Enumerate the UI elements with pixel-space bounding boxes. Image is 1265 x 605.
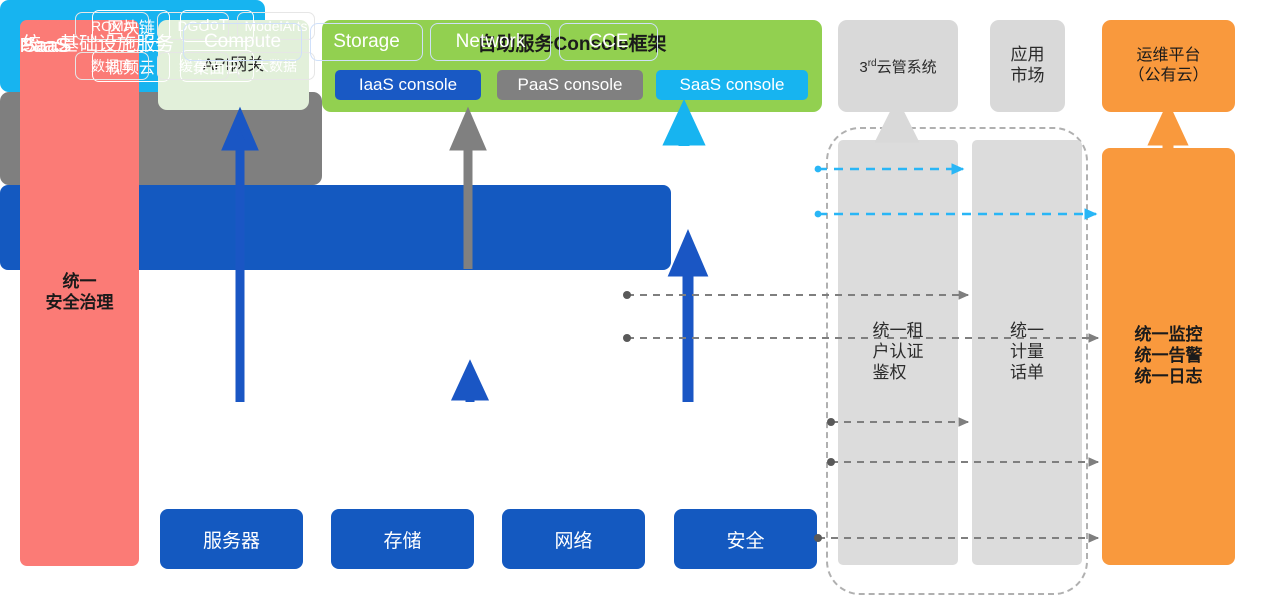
third-cloud-label: 3rd云管系统 [859, 56, 936, 77]
third-party-cloud-management-box: 3rd云管系统 [838, 20, 958, 112]
resource-box-server[interactable]: 服务器 [160, 509, 303, 569]
paas-console-chip[interactable]: PaaS console [497, 70, 643, 100]
iaas-console-chip[interactable]: IaaS console [335, 70, 481, 100]
infra-item-network[interactable]: Network [430, 23, 551, 61]
resource-box-storage[interactable]: 存储 [331, 509, 474, 569]
unified-monitoring-panel: 统一监控 统一告警 统一日志 [1102, 148, 1235, 565]
security-panel-label: 统一 安全治理 [46, 272, 114, 313]
resource-box-network[interactable]: 网络 [502, 509, 645, 569]
arrow-ops-panel-to-ops-platform [1156, 114, 1180, 148]
tenant-auth-column: 统一租 户认证 鉴权 [838, 140, 958, 565]
infrastructure-label: 统一基础设施服务 [22, 0, 174, 85]
arrow-infra-to-paas [458, 370, 482, 402]
app-market-label: 应用 市场 [1011, 45, 1045, 86]
metering-billing-column: 统一 计量 话单 [972, 140, 1082, 565]
unified-security-governance-panel: 统一 安全治理 [20, 20, 139, 566]
resource-box-security[interactable]: 安全 [674, 509, 817, 569]
ops-platform-label: 运维平台 （公有云） [1128, 46, 1208, 85]
app-market-box: 应用 市场 [990, 20, 1065, 112]
metering-billing-label: 统一 计量 话单 [1010, 321, 1044, 383]
ops-platform-public-cloud-box: 运维平台 （公有云） [1102, 20, 1235, 112]
arrow-saas-to-console [671, 112, 697, 146]
ops-panel-label: 统一监控 统一告警 统一日志 [1135, 325, 1203, 387]
infra-item-compute[interactable]: Compute [183, 23, 302, 61]
infra-item-storage[interactable]: Storage [310, 23, 423, 61]
infra-item-cce[interactable]: CCE [559, 23, 658, 61]
saas-console-chip[interactable]: SaaS console [656, 70, 808, 100]
tenant-auth-label: 统一租 户认证 鉴权 [873, 321, 924, 383]
architecture-diagram: 统一 安全治理 API网关 自助服务Console框架 IaaS console… [0, 0, 1265, 605]
arrow-infra-to-saas [676, 243, 700, 402]
